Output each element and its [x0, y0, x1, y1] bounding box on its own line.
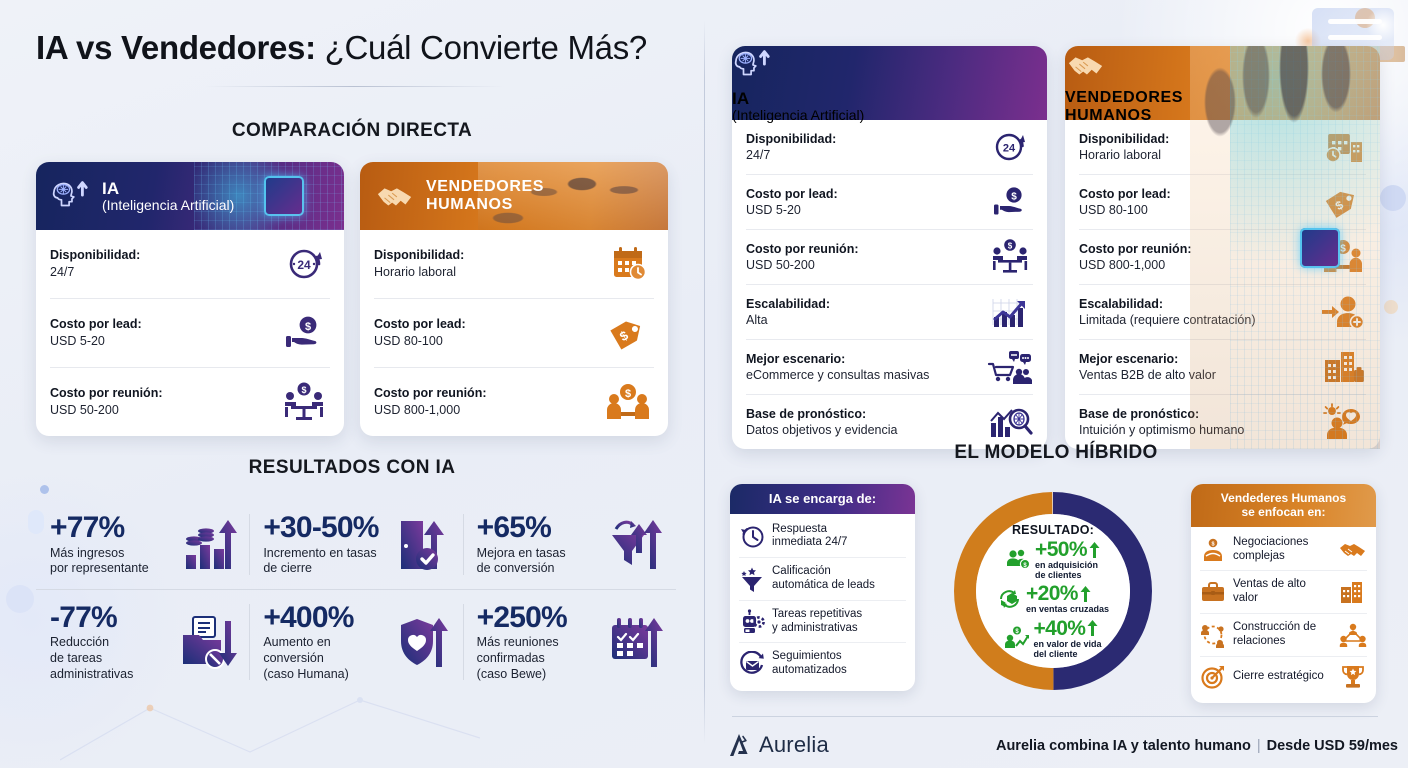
rcard-ia-rows: Disponibilidad: 24/7 24 Costo por lead	[732, 120, 1047, 449]
stat-item: +250% Más reuniones confirmadas (caso Be…	[463, 590, 676, 694]
door-check-up-icon	[393, 513, 455, 575]
row-key: Disponibilidad:	[374, 247, 464, 264]
calendar-check-up-icon	[606, 611, 668, 673]
list-item-label: Calificación automática de leads	[772, 565, 906, 593]
funnel-star-icon	[739, 566, 765, 592]
list-item: Cierre estratégico	[1200, 657, 1367, 697]
row-key: Costo por lead:	[50, 316, 142, 333]
infographic-page: IA vs Vendedores: ¿Cuál Convierte Más? C…	[0, 0, 1408, 768]
result-title: RESULTADO:	[1012, 523, 1094, 537]
stat-value: +30-50%	[263, 512, 388, 544]
table-row: Base de pronóstico: Datos objetivos y ev…	[746, 395, 1033, 449]
footer-tagline: Aurelia combina IA y talento humano	[996, 738, 1251, 754]
section-title-resultados: RESULTADOS CON IA	[0, 457, 704, 479]
row-value: Alta	[746, 312, 830, 328]
two-people-dollar-icon: $	[602, 381, 654, 423]
arrow-up-icon	[1080, 586, 1091, 602]
row-value: Horario laboral	[374, 264, 464, 281]
list-item-label: Seguimientos automatizados	[772, 650, 906, 678]
list-item: Seguimientos automatizados	[739, 643, 906, 685]
hybrid-human-title: Vendederes Humanos se enfocan en:	[1191, 484, 1376, 527]
value-up-icon: $	[1004, 626, 1030, 650]
row-value: USD 50-200	[50, 402, 163, 419]
robot-gear-icon	[739, 609, 765, 635]
table-row: Costo por reunión: USD 50-200 $	[746, 230, 1033, 285]
stat-value: +77%	[50, 512, 175, 544]
brain-head-icon	[732, 46, 774, 84]
stat-label: Mejora en tasas de conversión	[477, 546, 602, 577]
stat-value: +65%	[477, 512, 602, 544]
funnel-up-icon	[606, 513, 668, 575]
hybrid-human-list: $ Negociaciones complejas	[1191, 527, 1376, 703]
row-key: Costo por lead:	[374, 316, 466, 333]
row-key: Base de pronóstico:	[746, 406, 897, 422]
page-title: IA vs Vendedores: ¿Cuál Convierte Más?	[36, 28, 676, 68]
table-row: Costo por reunión: USD 800-1,000 $	[374, 368, 654, 436]
arrow-up-icon	[1087, 620, 1098, 636]
footer-divider	[732, 716, 1378, 717]
stat-label: Incremento en tasas de cierre	[263, 546, 388, 577]
svg-text:$: $	[301, 385, 306, 395]
result-metric-label: en ventas cruzadas	[1026, 604, 1109, 614]
handshake-icon	[374, 177, 416, 215]
section-title-hibrido: EL MODELO HÍBRIDO	[704, 442, 1408, 464]
row-value: USD 80-100	[374, 333, 466, 350]
row-value: Datos objetivos y evidencia	[746, 422, 897, 438]
card-humanos: VENDEDORES HUMANOS Disponibilidad: Horar…	[360, 162, 668, 436]
table-row: Escalabilidad: Alta	[746, 285, 1033, 340]
network-people-icon	[1200, 622, 1226, 648]
card-ia-titles: IA (Inteligencia Artificial)	[102, 179, 234, 214]
footer-price: Desde USD 59/mes	[1267, 738, 1398, 754]
stat-item: +65% Mejora en tasas de conversión	[463, 500, 676, 590]
row-value: USD 5-20	[50, 333, 142, 350]
footer: Aurelia Aurelia combina IA y talento hum…	[704, 722, 1408, 768]
people-add-icon: $	[1006, 548, 1032, 572]
stat-label: Aumento en conversión (caso Humana)	[263, 635, 388, 682]
cross-sell-icon	[997, 587, 1023, 611]
result-metric-value: +40%	[1033, 618, 1085, 639]
row-value: 24/7	[50, 264, 140, 281]
brand-logo: Aurelia	[728, 732, 829, 758]
table-row: Disponibilidad: 24/7 24	[50, 230, 330, 299]
list-item-label: Negociaciones complejas	[1233, 536, 1332, 564]
rcard-ia-title: IA	[732, 89, 1047, 108]
left-column: IA vs Vendedores: ¿Cuál Convierte Más? C…	[0, 0, 704, 768]
list-item: Calificación automática de leads	[739, 558, 906, 601]
coins-bars-up-icon	[179, 513, 241, 575]
card-ia: IA (Inteligencia Artificial) Disponibili…	[36, 162, 344, 436]
card-ia-header: IA (Inteligencia Artificial)	[36, 162, 344, 230]
row-value: USD 800-1,000	[374, 402, 487, 419]
card-humanos-titles: VENDEDORES HUMANOS	[426, 178, 544, 214]
svg-text:24: 24	[1003, 143, 1016, 155]
row-key: Costo por lead:	[1079, 186, 1171, 202]
card-humanos-subtitle: HUMANOS	[426, 196, 544, 214]
hybrid-ai-box: IA se encarga de: Respuesta inmediata 24…	[730, 484, 915, 691]
right-column: IA (Inteligencia Artificial) Disponibili…	[704, 0, 1408, 768]
stat-label: Más reuniones confirmadas (caso Bewe)	[477, 635, 602, 682]
stat-label: Más ingresos por representante	[50, 546, 175, 577]
briefcase-icon	[1200, 579, 1226, 605]
row-key: Disponibilidad:	[50, 247, 140, 264]
table-row: Costo por reunión: USD 50-200 $	[50, 368, 330, 436]
footer-separator: |	[1257, 738, 1261, 754]
rcard-humanos-header: VENDEDORES HUMANOS	[1065, 46, 1380, 120]
list-item-label: Respuesta inmediata 24/7	[772, 523, 906, 551]
mail-refresh-icon	[739, 651, 765, 677]
row-key: Costo por reunión:	[1079, 241, 1192, 257]
result-ring: RESULTADO: $ +50%	[948, 486, 1158, 696]
handshake-icon	[1339, 537, 1367, 563]
stat-item: -77% Reducción de tareas administrativas	[36, 590, 249, 694]
svg-text:24: 24	[297, 258, 311, 272]
calendar-clock-icon	[602, 243, 654, 285]
hybrid-ai-list: Respuesta inmediata 24/7 Calificación au…	[730, 514, 915, 691]
svg-text:$: $	[1211, 541, 1214, 547]
clock-arrow-icon	[739, 523, 765, 549]
arrow-up-icon	[1089, 542, 1100, 558]
stat-value: -77%	[50, 602, 175, 634]
stat-item: +77% Más ingresos por representante	[36, 500, 249, 590]
list-item: Tareas repetitivas y administrativas	[739, 601, 906, 644]
growth-chart-icon	[987, 293, 1033, 331]
folder-block-down-icon	[179, 611, 241, 673]
stat-item: +400% Aumento en conversión (caso Humana…	[249, 590, 462, 694]
list-item-label: Cierre estratégico	[1233, 670, 1332, 684]
table-row: Disponibilidad: Horario laboral	[374, 230, 654, 299]
svg-text:$: $	[625, 388, 631, 400]
card-humanos-rows: Disponibilidad: Horario laboral	[360, 230, 668, 436]
table-row: Costo por lead: USD 5-20 $	[50, 299, 330, 368]
card-ia-title: IA	[102, 179, 234, 198]
page-title-bold: IA vs Vendedores:	[36, 29, 316, 66]
target-icon	[1200, 664, 1226, 690]
table-row: Disponibilidad: 24/7 24	[746, 120, 1033, 175]
row-key: Disponibilidad:	[1079, 131, 1169, 147]
row-value: USD 5-20	[746, 202, 838, 218]
page-title-rest: ¿Cuál Convierte Más?	[316, 29, 647, 66]
row-key: Costo por reunión:	[374, 385, 487, 402]
team-circle-icon	[1339, 622, 1367, 648]
stat-value: +400%	[263, 602, 388, 634]
stat-value: +250%	[477, 602, 602, 634]
data-magnifier-icon	[987, 403, 1033, 441]
row-key: Costo por reunión:	[746, 241, 859, 257]
clock-24-icon: 24	[278, 243, 330, 285]
footer-text: Aurelia combina IA y talento humano|Desd…	[996, 738, 1398, 754]
title-rule	[204, 86, 504, 87]
buildings-icon	[1339, 579, 1367, 605]
stat-label: Reducción de tareas administrativas	[50, 635, 175, 682]
price-tag-icon: $	[602, 312, 654, 354]
hybrid-human-box: Vendederes Humanos se enfocan en: $ Nego…	[1191, 484, 1376, 703]
aurelia-mark-icon	[728, 732, 752, 758]
comparison-cards: IA (Inteligencia Artificial) Disponibili…	[36, 162, 668, 436]
list-item: Respuesta inmediata 24/7	[739, 516, 906, 559]
svg-text:$: $	[305, 321, 311, 333]
list-item-label: Ventas de alto valor	[1233, 578, 1332, 606]
result-metric: +20% en ventas cruzadas	[997, 583, 1109, 614]
hybrid-ai-title: IA se encarga de:	[730, 484, 915, 514]
row-value: USD 50-200	[746, 257, 859, 273]
card-ia-rows: Disponibilidad: 24/7 24	[36, 230, 344, 436]
stat-item: +30-50% Incremento en tasas de cierre	[249, 500, 462, 590]
brand-name: Aurelia	[759, 732, 829, 758]
rcard-ia: IA (Inteligencia Artificial) Disponibili…	[732, 46, 1047, 449]
shield-heart-up-icon	[393, 611, 455, 673]
result-metric-value: +50%	[1035, 539, 1087, 560]
card-humanos-title: VENDEDORES	[426, 178, 544, 196]
list-item: Ventas de alto valor	[1200, 571, 1367, 614]
brain-head-icon	[50, 177, 92, 215]
list-item: $ Negociaciones complejas	[1200, 529, 1367, 572]
svg-text:$: $	[1011, 192, 1017, 203]
detailed-comparison-cards: IA (Inteligencia Artificial) Disponibili…	[732, 46, 1380, 449]
hand-dollar-icon: $	[987, 183, 1033, 221]
section-title-comparacion: COMPARACIÓN DIRECTA	[0, 120, 704, 142]
card-ia-subtitle: (Inteligencia Artificial)	[102, 198, 234, 214]
svg-text:$: $	[1008, 242, 1013, 251]
rcard-humanos-title: VENDEDORES	[1065, 89, 1380, 107]
row-key: Costo por reunión:	[50, 385, 163, 402]
row-key: Mejor escenario:	[746, 351, 929, 367]
card-humanos-header: VENDEDORES HUMANOS	[360, 162, 668, 230]
hybrid-model-diagram: IA se encarga de: Respuesta inmediata 24…	[704, 484, 1408, 699]
rcard-ia-header: IA (Inteligencia Artificial)	[732, 46, 1047, 120]
meeting-dollar-icon: $	[278, 381, 330, 423]
row-value: USD 800-1,000	[1079, 257, 1192, 273]
hand-dollar-icon: $	[278, 312, 330, 354]
result-metric: $ +40% en valor de vida del cliente	[1004, 618, 1101, 659]
rcard-humanos-subtitle: HUMANOS	[1065, 107, 1380, 125]
clock-24-icon: 24	[987, 128, 1033, 166]
list-item-label: Tareas repetitivas y administrativas	[772, 608, 906, 636]
row-key: Disponibilidad:	[746, 131, 836, 147]
cart-chat-icon	[987, 348, 1033, 386]
rcard-humanos-titles: VENDEDORES HUMANOS	[1065, 89, 1380, 125]
list-item: Construcción de relaciones	[1200, 614, 1367, 657]
person-dollar-icon: $	[1200, 537, 1226, 563]
result-metric-value: +20%	[1026, 583, 1078, 604]
result-metric: $ +50% en adquisición de clientes	[1006, 539, 1100, 580]
meeting-dollar-icon: $	[987, 238, 1033, 276]
trophy-icon	[1339, 664, 1367, 690]
row-key: Costo por lead:	[746, 186, 838, 202]
table-row: Mejor escenario: eCommerce y consultas m…	[746, 340, 1033, 395]
table-row: Costo por lead: USD 80-100 $	[374, 299, 654, 368]
result-metric-label: en adquisición de clientes	[1035, 560, 1100, 580]
row-key: Escalabilidad:	[746, 296, 830, 312]
result-metric-label: en valor de vida del cliente	[1033, 639, 1101, 659]
row-value: USD 80-100	[1079, 202, 1171, 218]
ai-chip-icon	[264, 176, 304, 216]
list-item-label: Construcción de relaciones	[1233, 621, 1332, 649]
row-value: Horario laboral	[1079, 147, 1169, 163]
table-row: Costo por lead: USD 5-20 $	[746, 175, 1033, 230]
results-stats-grid: +77% Más ingresos por representante +30-…	[36, 500, 676, 694]
handshake-icon	[1065, 46, 1107, 84]
row-value: 24/7	[746, 147, 836, 163]
row-value: eCommerce y consultas masivas	[746, 367, 929, 383]
rcard-ia-titles: IA (Inteligencia Artificial)	[732, 89, 1047, 124]
